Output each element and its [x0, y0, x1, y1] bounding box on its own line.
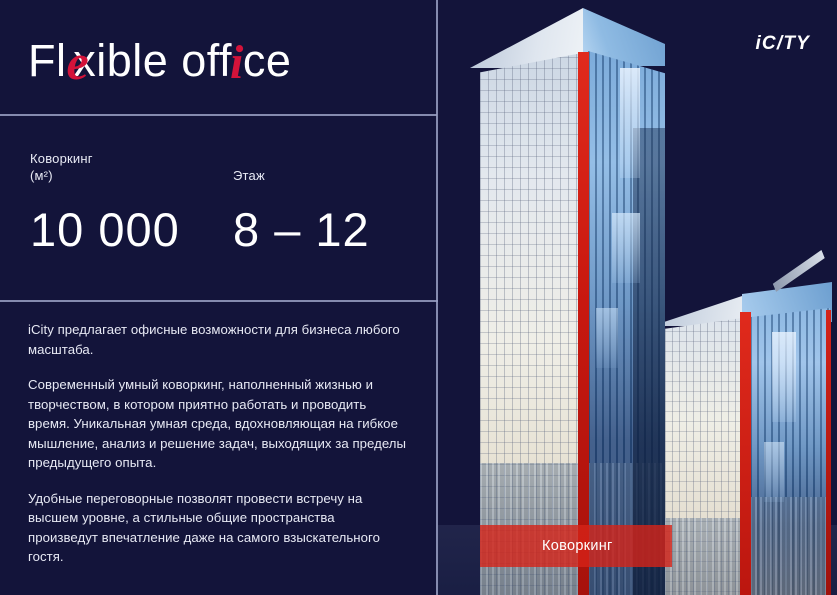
- page-title: Flexible office: [28, 26, 418, 92]
- secondary-glint-a: [772, 332, 796, 422]
- secondary-tower: [652, 282, 832, 595]
- stat-floor-value: 8 – 12: [233, 202, 370, 258]
- stat-floor: Этаж 8 – 12: [233, 150, 370, 258]
- main-glint-2: [612, 213, 640, 283]
- stat-coworking: Коворкинг (м²) 10 000: [30, 150, 180, 258]
- stat-floor-label: Этаж: [233, 150, 370, 184]
- coworking-band: Коворкинг: [480, 525, 672, 567]
- main-glint-3: [596, 308, 618, 368]
- coworking-band-label: Коворкинг: [542, 538, 613, 554]
- stats-row: Коворкинг (м²) 10 000 Этаж 8 – 12: [28, 150, 428, 280]
- title-part-2: xible off: [73, 35, 232, 86]
- title-accent-i: i: [230, 36, 244, 89]
- building-image-panel: Коворкинг iC/TY: [438, 0, 837, 595]
- paragraph-1: iCity предлагает офисные возможности для…: [28, 320, 408, 359]
- secondary-reflection-right: [750, 497, 830, 595]
- description-text: iCity предлагает офисные возможности для…: [28, 320, 408, 567]
- left-panel: Flexible office Коворкинг (м²) 10 000 Эт…: [0, 0, 437, 595]
- paragraph-2: Современный умный коворкинг, наполненный…: [28, 375, 408, 473]
- title-accent-e: e: [67, 34, 90, 90]
- stat-coworking-value: 10 000: [30, 202, 180, 258]
- title-part-3: ce: [243, 35, 292, 86]
- stat-coworking-label: Коворкинг (м²): [30, 150, 180, 184]
- paragraph-3: Удобные переговорные позволят провести в…: [28, 489, 408, 567]
- title-part-1: Fl: [28, 35, 67, 86]
- main-tower: Коворкинг: [470, 8, 665, 595]
- secondary-red-stripe: [740, 312, 751, 595]
- secondary-red-edge: [826, 310, 831, 595]
- main-glint-1: [620, 68, 640, 178]
- main-red-stripe: [578, 52, 589, 595]
- secondary-glint-b: [764, 442, 784, 502]
- icity-logo: iC/TY: [755, 33, 810, 55]
- slide-root: Flexible office Коворкинг (м²) 10 000 Эт…: [0, 0, 837, 595]
